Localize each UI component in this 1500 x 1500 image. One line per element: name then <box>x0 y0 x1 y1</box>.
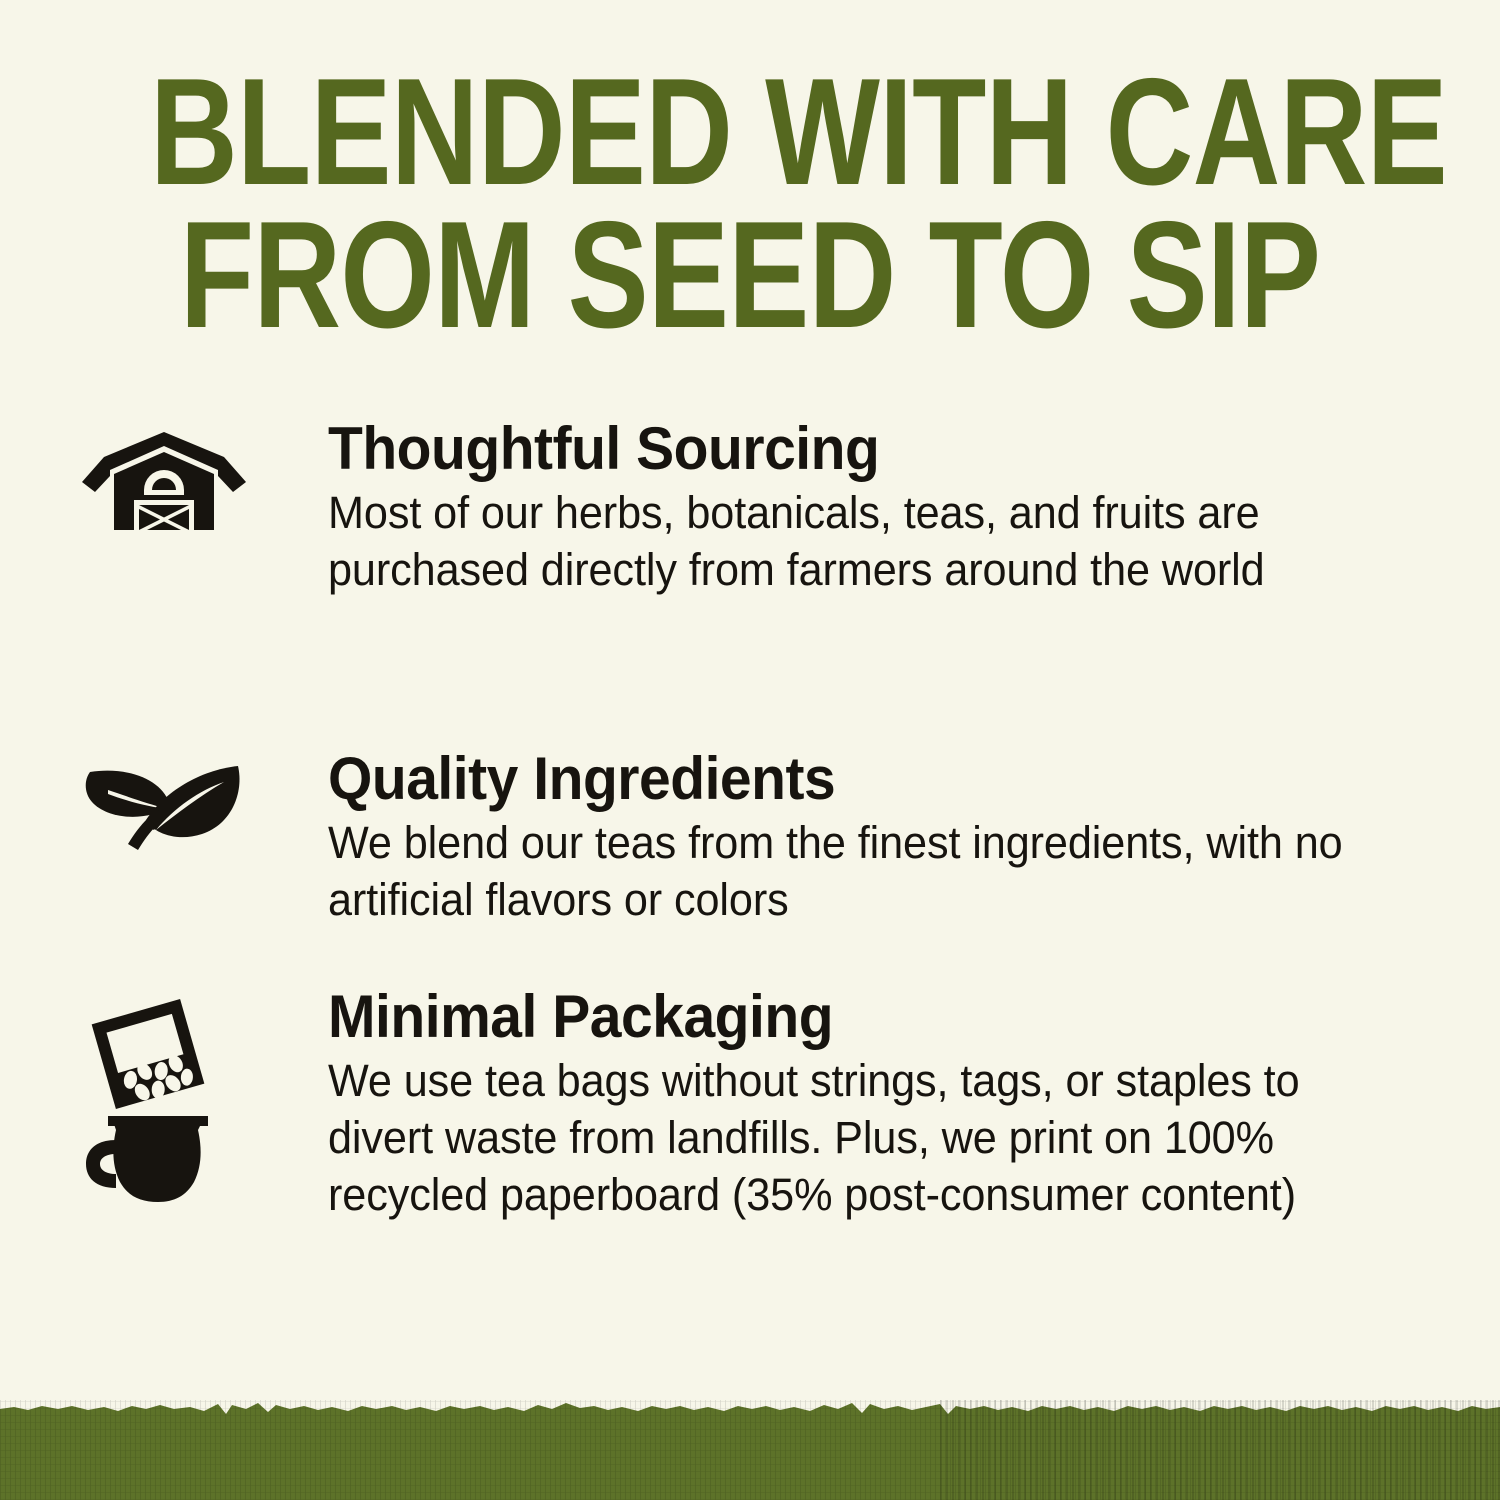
bottom-green-band <box>0 1400 1500 1500</box>
feature-copy: Quality Ingredients We blend our teas fr… <box>328 748 1500 929</box>
feature-copy: Thoughtful Sourcing Most of our herbs, b… <box>328 418 1500 599</box>
feature-item-minimal-packaging: Minimal Packaging We use tea bags withou… <box>0 986 1500 1346</box>
feature-copy: Minimal Packaging We use tea bags withou… <box>328 986 1500 1223</box>
leaves-icon <box>78 748 328 852</box>
feature-description: Most of our herbs, botanicals, teas, and… <box>328 485 1298 598</box>
band-texture-right <box>940 1400 1500 1500</box>
feature-title: Quality Ingredients <box>328 748 1365 809</box>
feature-list: Thoughtful Sourcing Most of our herbs, b… <box>0 418 1500 1346</box>
feature-description: We use tea bags without strings, tags, o… <box>328 1053 1374 1223</box>
feature-item-quality-ingredients: Quality Ingredients We blend our teas fr… <box>0 748 1500 986</box>
headline-line-1: BLENDED WITH CARE <box>150 58 1350 207</box>
teabag-mug-icon <box>78 986 328 1211</box>
feature-title: Minimal Packaging <box>328 986 1365 1047</box>
feature-description: We blend our teas from the finest ingred… <box>328 815 1360 928</box>
barn-icon <box>78 418 328 530</box>
headline-line-2: FROM SEED TO SIP <box>150 201 1350 350</box>
feature-item-thoughtful-sourcing: Thoughtful Sourcing Most of our herbs, b… <box>0 418 1500 748</box>
page-title: BLENDED WITH CARE FROM SEED TO SIP <box>150 58 1350 350</box>
feature-title: Thoughtful Sourcing <box>328 418 1365 479</box>
promo-graphic: BLENDED WITH CARE FROM SEED TO SIP <box>0 0 1500 1500</box>
